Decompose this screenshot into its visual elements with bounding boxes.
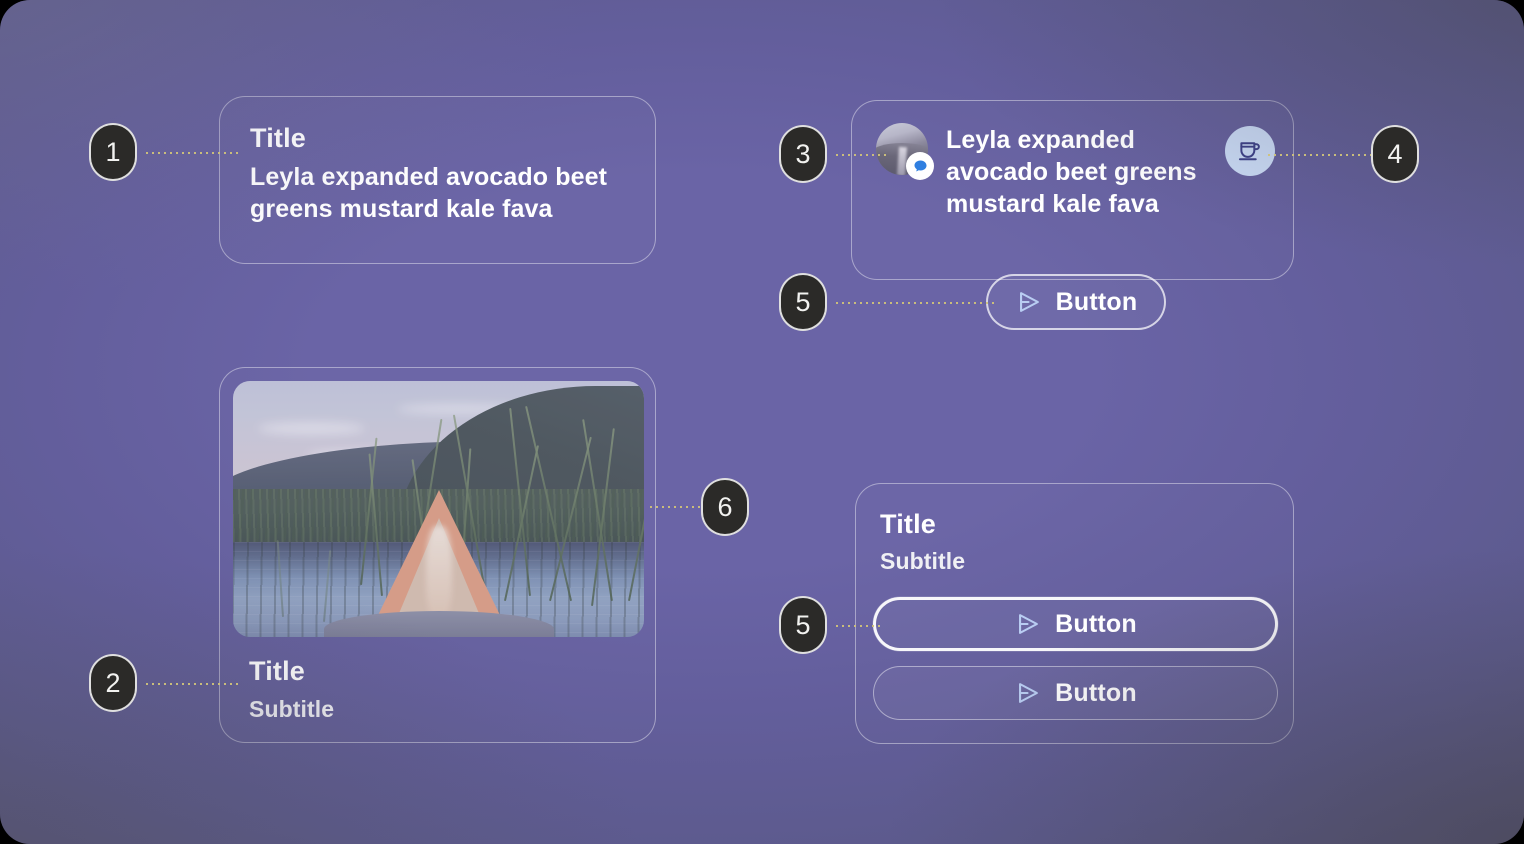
leader-line-6 (650, 506, 708, 508)
actions-card-secondary-button[interactable]: Button (873, 666, 1278, 720)
text-card-body: Leyla expanded avocado beet greens musta… (250, 161, 625, 225)
media-card-subtitle: Subtitle (249, 696, 334, 722)
callout-badge-6[interactable]: 6 (701, 478, 749, 536)
actions-card-title: Title (880, 509, 1293, 540)
callout-badge-4[interactable]: 4 (1371, 125, 1419, 183)
callout-badge-5[interactable]: 5 (779, 273, 827, 331)
message-card-body: Leyla expanded avocado beet greens musta… (946, 124, 1214, 220)
text-card-title: Title (250, 123, 625, 154)
callout-badge-1[interactable]: 1 (89, 123, 137, 181)
send-icon (1015, 288, 1043, 316)
send-icon (1014, 610, 1042, 638)
leader-line-1 (146, 152, 238, 154)
callout-badge-5b[interactable]: 5 (779, 596, 827, 654)
message-card-button[interactable]: Button (986, 274, 1166, 330)
leader-line-5 (836, 302, 994, 304)
message-card-button-label: Button (1056, 288, 1138, 317)
actions-card-primary-button-label: Button (1055, 610, 1137, 639)
media-card-title: Title (249, 656, 334, 687)
photo-icon (233, 381, 644, 637)
message-card[interactable]: Leyla expanded avocado beet greens musta… (851, 100, 1294, 280)
message-card-coffee-icon[interactable] (1225, 126, 1275, 176)
leader-line-2 (146, 683, 242, 685)
media-card[interactable]: Title Subtitle (219, 367, 656, 743)
actions-card-secondary-button-label: Button (1055, 679, 1137, 708)
callout-badge-2[interactable]: 2 (89, 654, 137, 712)
actions-card-subtitle: Subtitle (880, 548, 965, 574)
media-card-thumbnail[interactable] (233, 381, 644, 637)
chat-bubble-icon (906, 152, 934, 180)
callout-badge-3[interactable]: 3 (779, 125, 827, 183)
actions-card-primary-button[interactable]: Button (873, 597, 1278, 651)
leader-line-4 (1268, 154, 1372, 156)
leader-line-3 (836, 154, 888, 156)
annotated-component-canvas: Title Leyla expanded avocado beet greens… (0, 0, 1524, 844)
actions-card[interactable]: Title Subtitle Button Button (855, 483, 1294, 744)
text-card[interactable]: Title Leyla expanded avocado beet greens… (219, 96, 656, 264)
leader-line-5b (836, 625, 884, 627)
message-card-avatar[interactable] (876, 123, 928, 175)
send-icon (1014, 679, 1042, 707)
